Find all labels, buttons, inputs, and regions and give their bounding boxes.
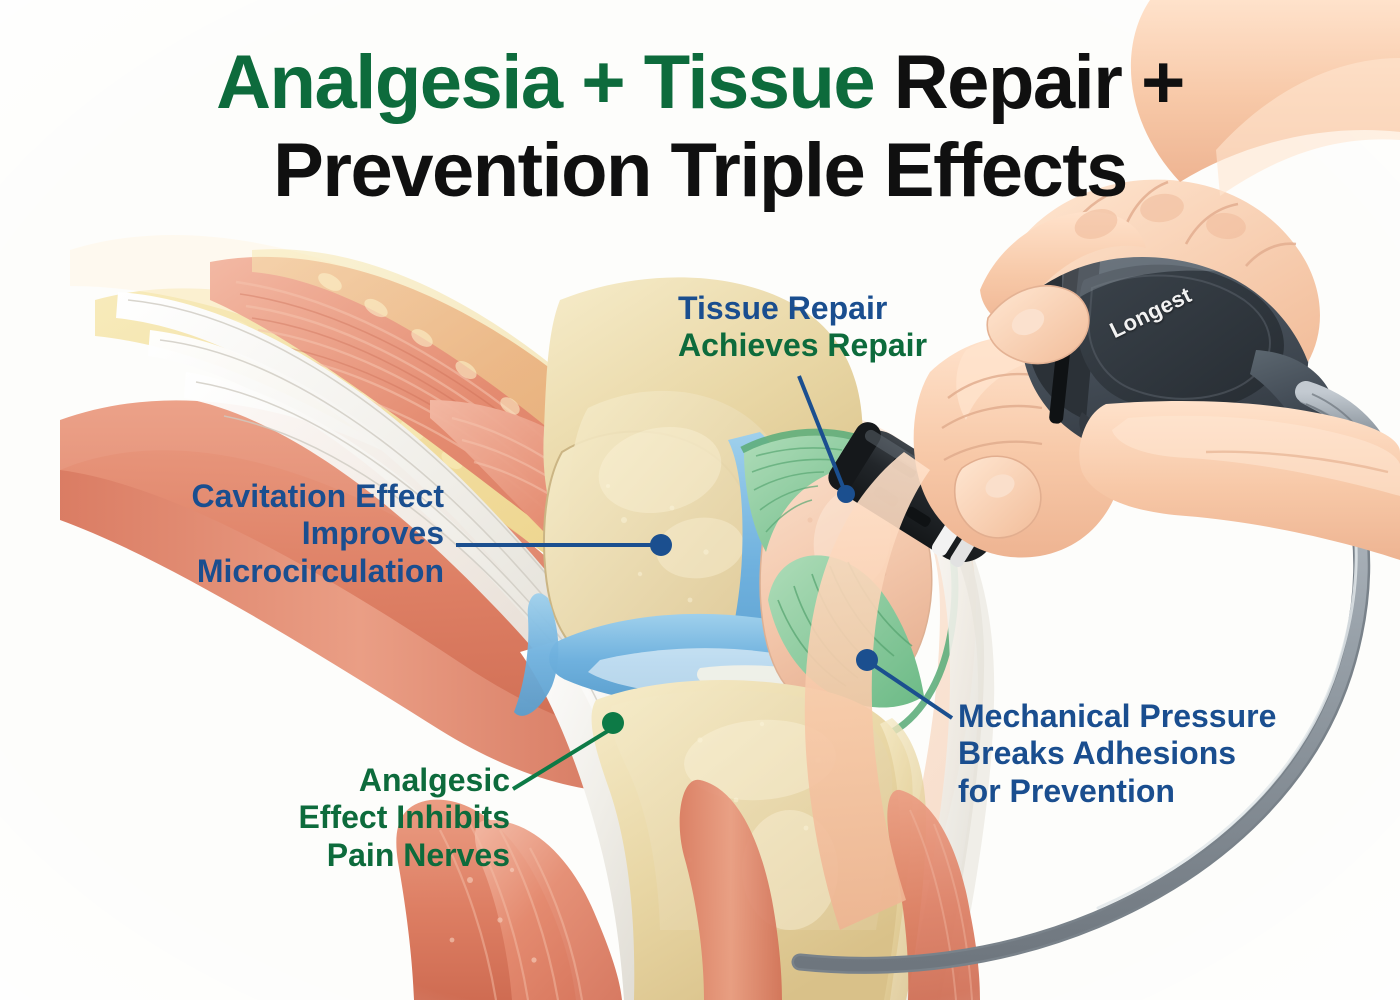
- knee-shockwave-illustration: [0, 0, 1400, 1000]
- infographic-canvas: Analgesia + Tissue Repair + Prevention T…: [0, 0, 1400, 1000]
